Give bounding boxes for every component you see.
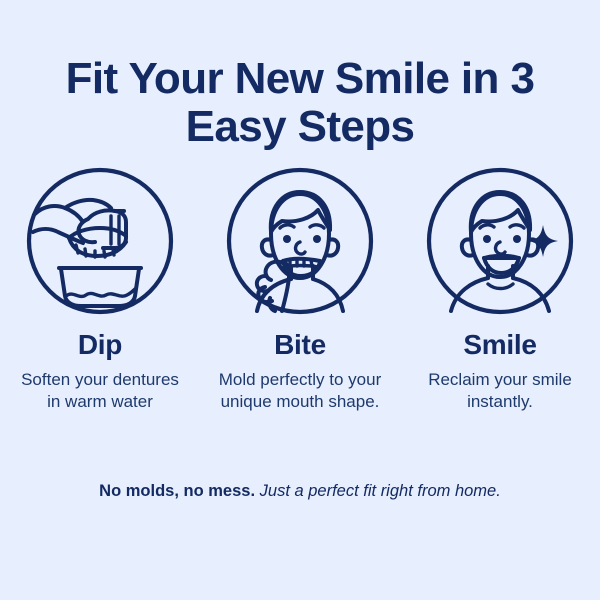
step-title: Smile xyxy=(463,330,536,361)
page-title: Fit Your New Smile in 3 Easy Steps xyxy=(30,55,570,150)
person-biting-dentures-icon xyxy=(225,166,375,316)
step-title: Dip xyxy=(78,330,122,361)
tagline-bold: No molds, no mess. xyxy=(99,482,255,500)
step-description: Soften your dentures in warm water xyxy=(13,369,188,414)
step-dip: Dip Soften your dentures in warm water xyxy=(0,166,200,414)
step-title: Bite xyxy=(274,330,326,361)
footer-tagline: No molds, no mess. Just a perfect fit ri… xyxy=(0,481,600,502)
tagline-italic: Just a perfect fit right from home. xyxy=(260,482,501,500)
hand-dipping-dentures-in-bowl-icon xyxy=(25,166,175,316)
steps-row: Dip Soften your dentures in warm water xyxy=(0,166,600,414)
step-description: Mold perfectly to your unique mouth shap… xyxy=(210,369,390,414)
step-smile: Smile Reclaim your smile instantly. xyxy=(400,166,600,414)
step-description: Reclaim your smile instantly. xyxy=(415,369,585,414)
smiling-face-with-sparkle-icon xyxy=(425,166,575,316)
step-bite: Bite Mold perfectly to your unique mouth… xyxy=(200,166,400,414)
promo-page: Fit Your New Smile in 3 Easy Steps xyxy=(0,0,600,600)
